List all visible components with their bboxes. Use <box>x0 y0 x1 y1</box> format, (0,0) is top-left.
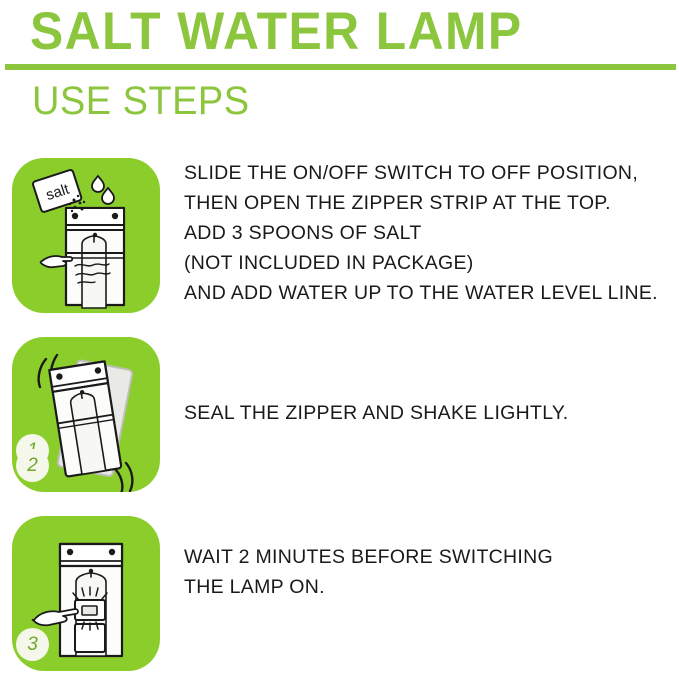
instruction-sheet: SALT WATER LAMP USE STEPS <box>0 0 679 673</box>
step-2-number-badge: 2 <box>16 449 49 482</box>
step-2-line-1: SEAL THE ZIPPER AND SHAKE LIGHTLY. <box>184 398 568 428</box>
title-divider <box>5 64 676 70</box>
step-3-line-1: WAIT 2 MINUTES BEFORE SWITCHING <box>184 542 553 572</box>
step-2: 2 SEAL THE ZIPPER AND SHAKE LIGHTLY. <box>0 337 679 492</box>
step-1-line-2: THEN OPEN THE ZIPPER STRIP AT THE TOP. <box>184 188 658 218</box>
step-2-description: SEAL THE ZIPPER AND SHAKE LIGHTLY. <box>184 398 568 428</box>
step-1-line-3: ADD 3 SPOONS OF SALT <box>184 218 658 248</box>
page-subtitle: USE STEPS <box>32 78 250 124</box>
step-1-line-4: (NOT INCLUDED IN PACKAGE) <box>184 248 658 278</box>
step-3-line-2: THE LAMP ON. <box>184 572 553 602</box>
step-3-number-badge: 3 <box>16 628 49 661</box>
page-title: SALT WATER LAMP <box>30 2 523 62</box>
step-3: 3 WAIT 2 MINUTES BEFORE SWITCHING THE LA… <box>0 516 679 671</box>
step-1-line-5: AND ADD WATER UP TO THE WATER LEVEL LINE… <box>184 278 658 308</box>
step-3-description: WAIT 2 MINUTES BEFORE SWITCHING THE LAMP… <box>184 542 553 602</box>
step-1: salt 1 <box>0 158 679 313</box>
step-1-line-1: SLIDE THE ON/OFF SWITCH TO OFF POSITION, <box>184 158 658 188</box>
salt-water-fill-illustration: salt <box>12 158 160 313</box>
water-drops <box>92 176 114 204</box>
step-1-description: SLIDE THE ON/OFF SWITCH TO OFF POSITION,… <box>184 158 658 308</box>
